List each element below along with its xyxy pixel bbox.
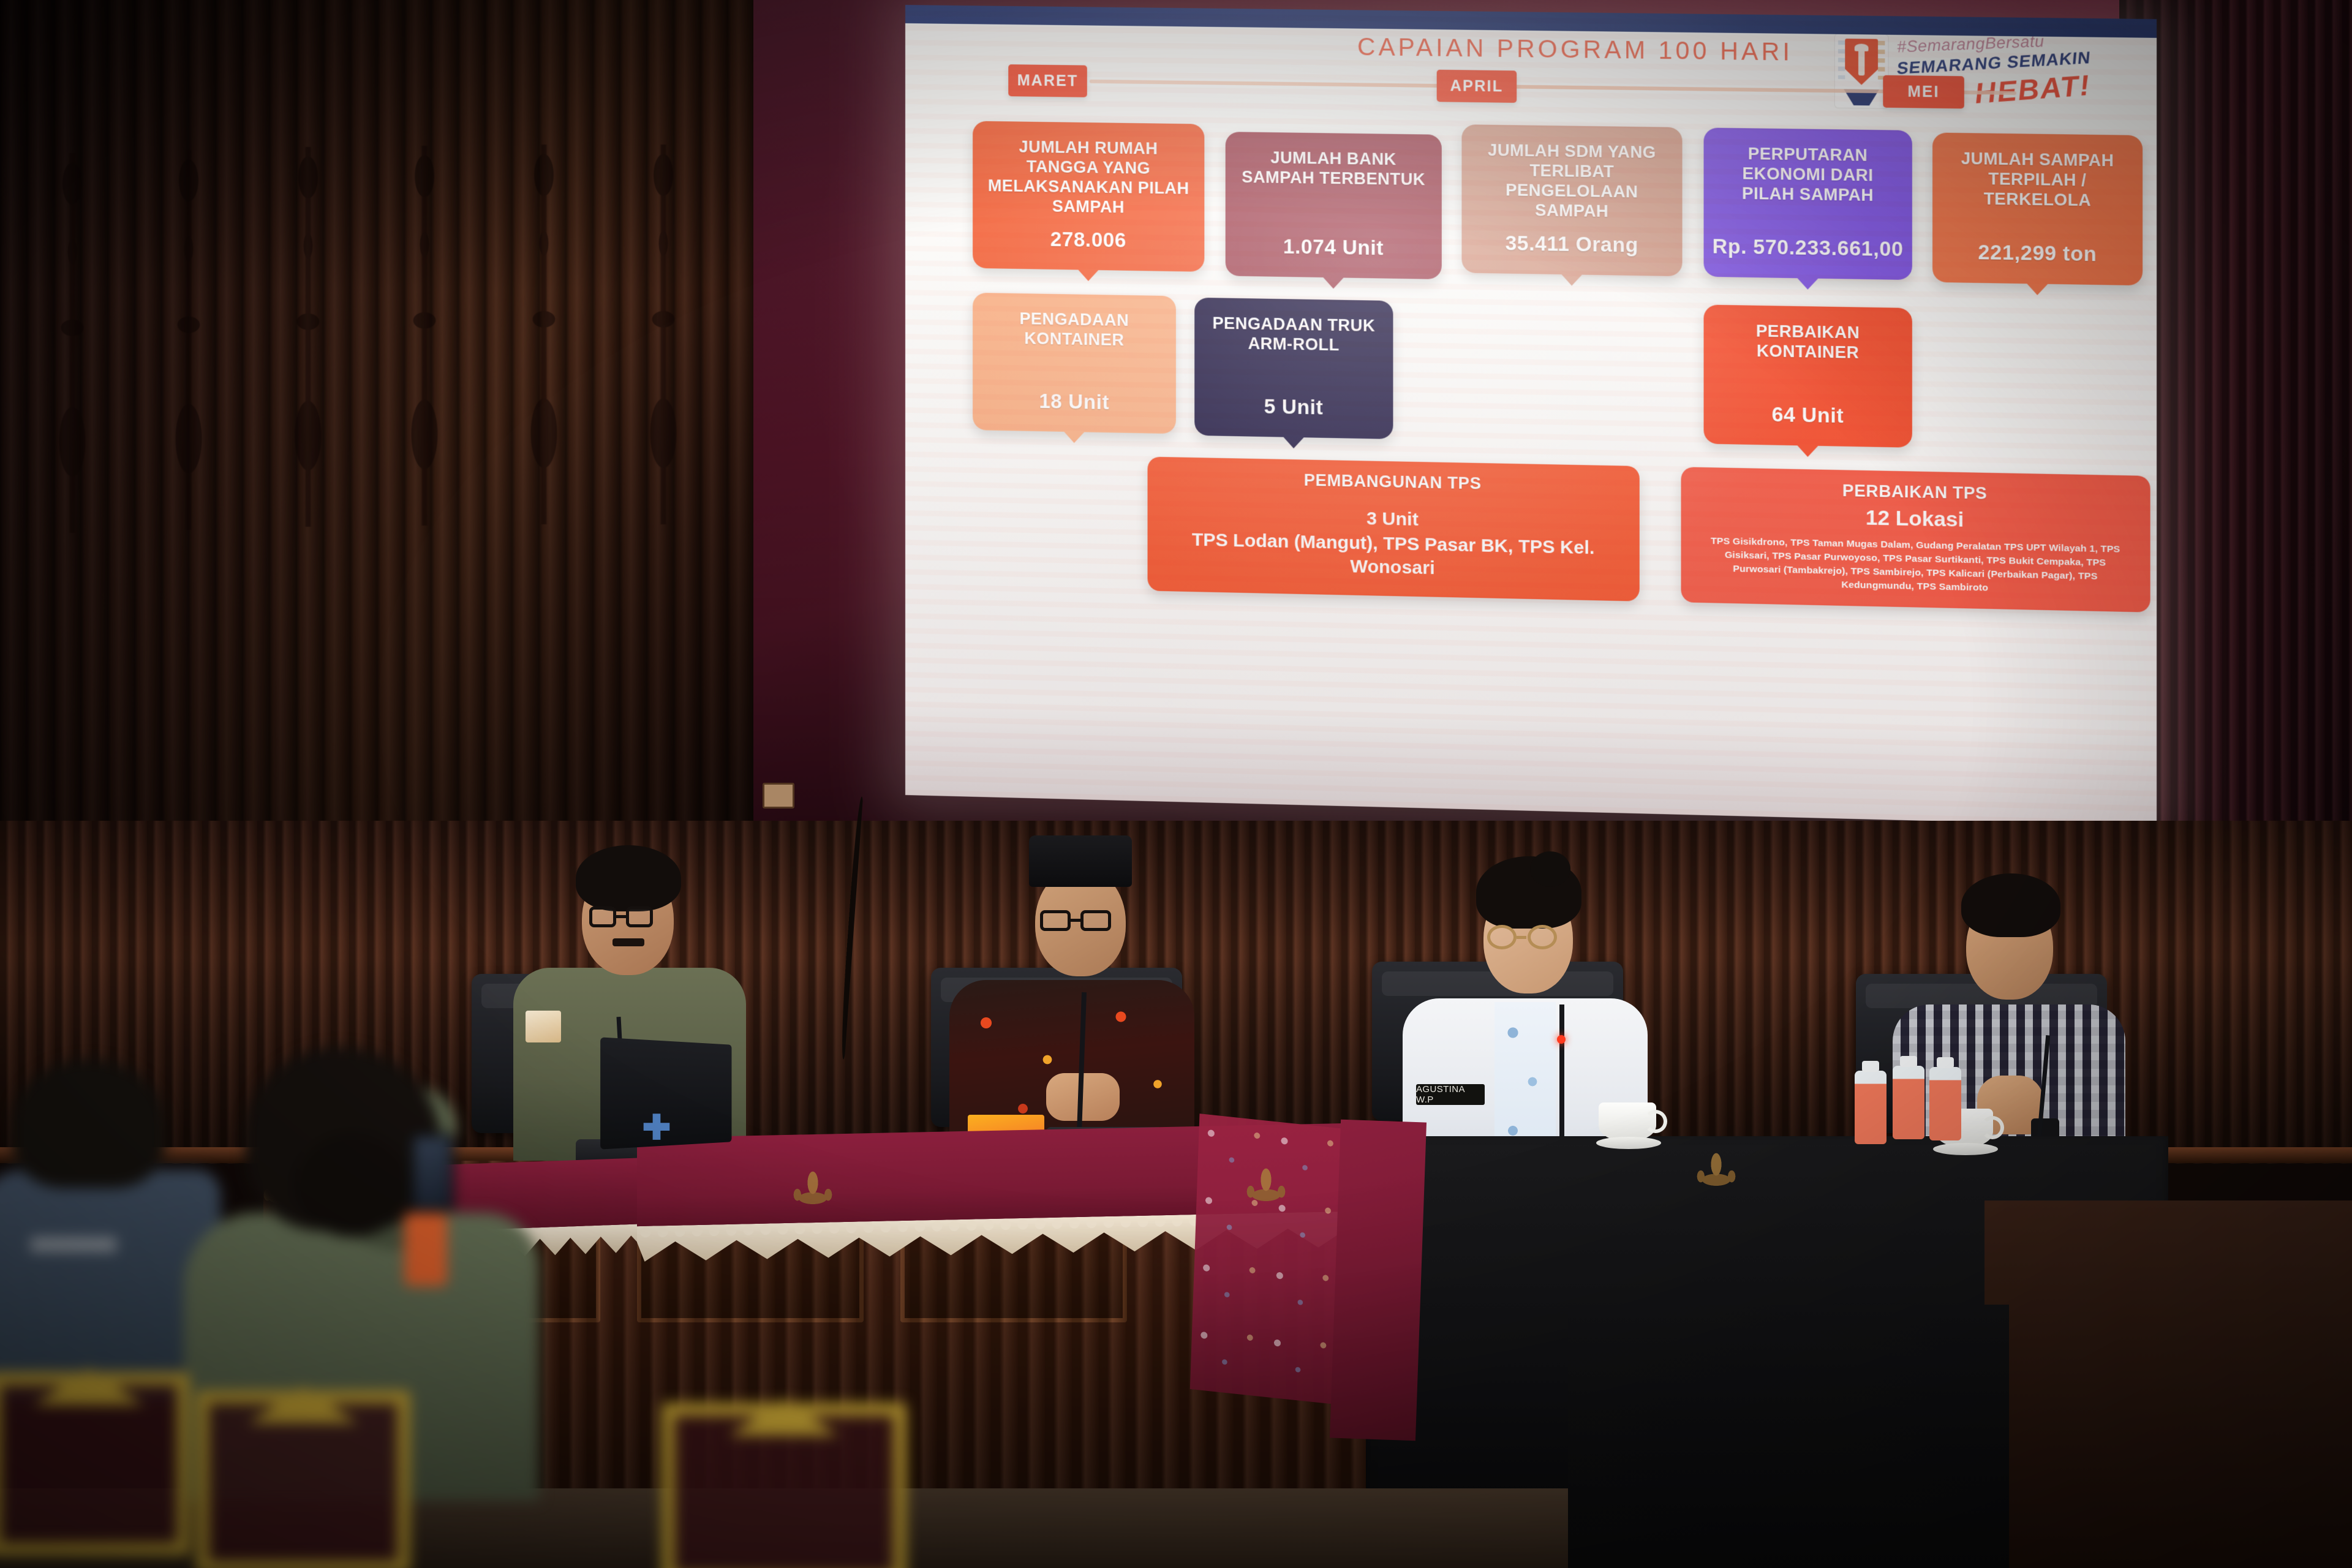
wood-carving-ornament — [395, 146, 454, 526]
card-tail — [1062, 429, 1087, 443]
coffee-cup — [1599, 1102, 1656, 1140]
card-tail — [1795, 276, 1820, 290]
audience-chair — [196, 1390, 410, 1568]
audience-chair — [0, 1372, 190, 1556]
card-tail — [1281, 435, 1306, 449]
audience-chair — [661, 1403, 907, 1568]
kpi-card-perbaikan-tps: PERBAIKAN TPS 12 Lokasi TPS Gisikdrono, … — [1681, 467, 2150, 612]
card-tail — [1559, 272, 1585, 286]
kpi-label: JUMLAH BANK SAMPAH TERBENTUK — [1235, 148, 1432, 190]
kpi-label: JUMLAH SAMPAH TERPILAH / TERKELOLA — [1943, 149, 2133, 211]
kpi-card-bank-sampah: JUMLAH BANK SAMPAH TERBENTUK 1.074 Unit — [1226, 132, 1442, 279]
slide-logo-block: #SemarangBersatu SEMARANG SEMAKIN HEBAT! — [1835, 34, 2102, 131]
kpi-label: PERBAIKAN KONTAINER — [1714, 321, 1902, 364]
card-tail — [2024, 281, 2050, 295]
conference-room-scene: CAPAIAN PROGRAM 100 HARI #SemarangBersat… — [0, 0, 2352, 1568]
kpi-label: PEMBANGUNAN TPS — [1160, 468, 1627, 496]
wood-carving-ornament — [1691, 1151, 1742, 1194]
kpi-value: 18 Unit — [973, 388, 1176, 415]
kpi-value: 12 Lokasi — [1694, 502, 2138, 535]
wood-carving-ornament — [1240, 1167, 1292, 1210]
kpi-card-rumah-tangga: JUMLAH RUMAH TANGGA YANG MELAKSANAKAN PI… — [973, 121, 1204, 271]
kpi-card-pembangunan-tps: PEMBANGUNAN TPS 3 Unit TPS Lodan (Mangut… — [1148, 457, 1640, 601]
kpi-value: 1.074 Unit — [1226, 234, 1442, 261]
kpi-value: 35.411 Orang — [1461, 231, 1682, 258]
eyeglasses-icon — [589, 907, 663, 930]
wood-carving-ornament — [634, 145, 693, 524]
card-tail — [1321, 275, 1346, 289]
water-bottle — [1855, 1071, 1887, 1144]
kpi-value: Rp. 570.233.661,00 — [1704, 235, 1912, 262]
kpi-value: 64 Unit — [1704, 402, 1912, 429]
timeline-month-mei: MEI — [1883, 75, 1964, 109]
water-bottle — [1893, 1066, 1924, 1139]
foreground-audience — [0, 1011, 992, 1568]
name-badge: AGUSTINA W.P — [1416, 1084, 1485, 1105]
water-bottle — [1929, 1067, 1961, 1140]
kpi-location-list: TPS Gisikdrono, TPS Taman Mugas Dalam, G… — [1694, 534, 2138, 598]
card-tail — [1076, 267, 1101, 281]
kpi-value: 5 Unit — [1194, 394, 1393, 421]
embroidered-table-runner — [1330, 1120, 1427, 1441]
kpi-card-pengadaan-truk-armroll: PENGADAAN TRUK ARM-ROLL 5 Unit — [1194, 298, 1393, 439]
kpi-label: PENGADAAN KONTAINER — [982, 309, 1166, 351]
eyeglasses-icon — [1487, 925, 1568, 949]
kpi-card-pengadaan-kontainer: PENGADAAN KONTAINER 18 Unit — [973, 293, 1176, 434]
kpi-value: 221,299 ton — [1932, 239, 2143, 266]
kpi-label: JUMLAH SDM YANG TERLIBAT PENGELOLAAN SAM… — [1472, 141, 1672, 223]
kpi-label: JUMLAH RUMAH TANGGA YANG MELAKSANAKAN PI… — [982, 137, 1194, 219]
shirt-logo — [31, 1237, 116, 1252]
smartphone — [410, 1133, 454, 1213]
kpi-card-sampah-terpilah: JUMLAH SAMPAH TERPILAH / TERKELOLA 221,2… — [1932, 132, 2143, 285]
kpi-card-perbaikan-kontainer: PERBAIKAN KONTAINER 64 Unit — [1704, 304, 1912, 448]
kpi-card-sdm-terlibat: JUMLAH SDM YANG TERLIBAT PENGELOLAAN SAM… — [1461, 124, 1682, 276]
projected-slide: CAPAIAN PROGRAM 100 HARI #SemarangBersat… — [905, 5, 2157, 827]
wood-carving-ornament — [279, 147, 337, 527]
kpi-label: PENGADAAN TRUK ARM-ROLL — [1204, 314, 1383, 356]
wall-socket-plate — [763, 783, 794, 809]
mic-active-led — [1557, 1035, 1566, 1044]
wood-carving-ornament — [514, 145, 573, 524]
wood-carving-ornament — [159, 150, 218, 530]
kpi-label: PERBAIKAN TPS — [1694, 478, 2138, 507]
wood-carving-ornament — [43, 153, 102, 533]
kpi-label: PERPUTARAN EKONOMI DARI PILAH SAMPAH — [1714, 144, 1902, 206]
kpi-value: 278.006 — [973, 227, 1204, 254]
eyeglasses-icon — [1040, 910, 1120, 935]
timeline-month-maret: MARET — [1008, 64, 1087, 97]
speaker-cabinet — [1568, 1305, 2009, 1568]
side-podium — [1985, 1200, 2352, 1568]
kpi-card-perputaran-ekonomi: PERPUTARAN EKONOMI DARI PILAH SAMPAH Rp.… — [1704, 127, 1912, 280]
kpi-detail: TPS Lodan (Mangut), TPS Pasar BK, TPS Ke… — [1160, 527, 1627, 584]
timeline-month-april: APRIL — [1437, 70, 1517, 103]
card-tail — [1795, 443, 1820, 457]
peci-cap — [1029, 835, 1132, 887]
semarang-city-crest-icon — [1835, 34, 1888, 108]
